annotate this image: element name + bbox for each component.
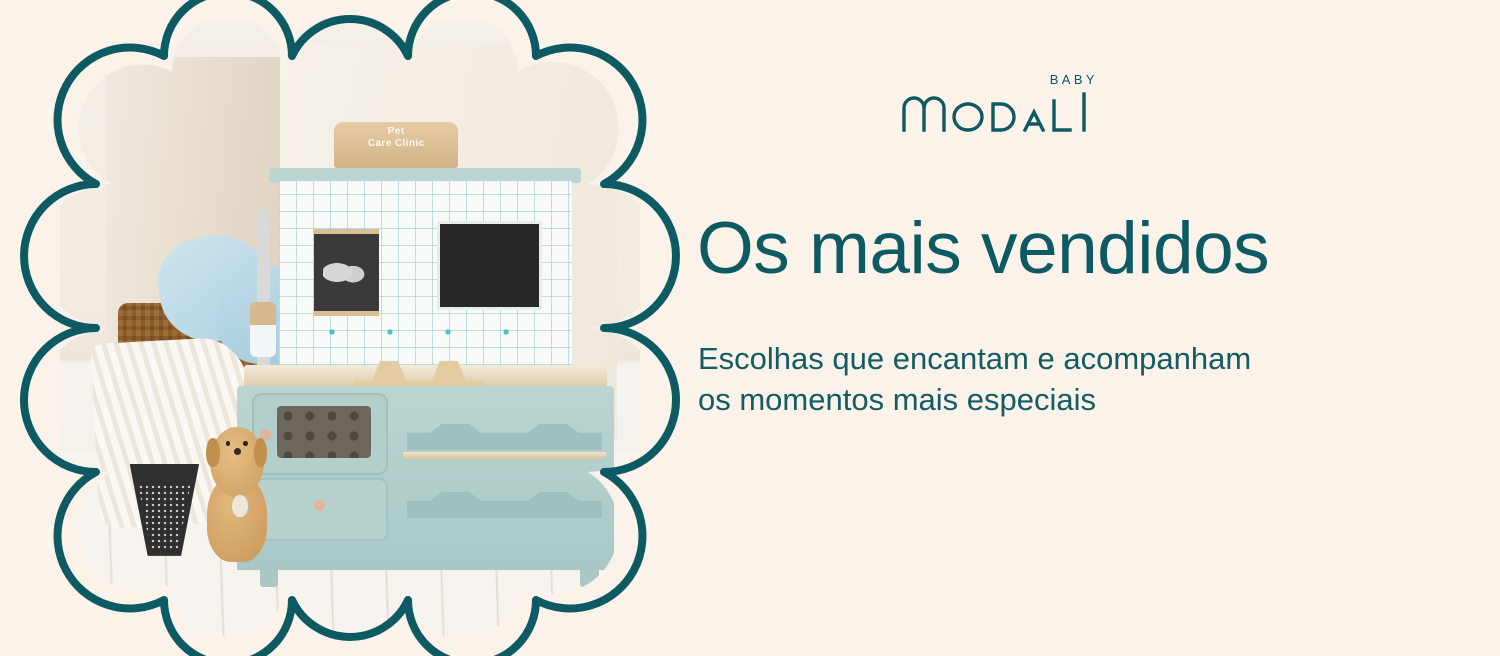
chalkboard — [437, 221, 542, 310]
brand-logo-baby-label: BABY — [1050, 72, 1098, 87]
pet-care-clinic-toy: PetCare Clinic — [263, 143, 588, 562]
hero-image-frame: PetCare Clinic — [60, 20, 640, 636]
modali-wordmark-icon — [898, 86, 1098, 132]
page-title: Os mais vendidos — [697, 212, 1269, 286]
toy-sign-line1: Pet — [388, 126, 405, 137]
banner-content: BABY Os mais vendidos — [697, 0, 1437, 656]
plush-puppy — [199, 427, 274, 563]
hero-photo: PetCare Clinic — [60, 20, 640, 636]
subtitle-line-1: Escolhas que encantam e acompanham — [698, 338, 1251, 379]
paw-print-pattern — [303, 317, 554, 358]
xray-chart-icon — [314, 229, 378, 316]
brand-logo[interactable]: BABY — [898, 72, 1098, 134]
toy-sign: PetCare Clinic — [334, 122, 457, 168]
subtitle-line-2: os momentos mais especiais — [698, 379, 1251, 420]
scallop-frame-svg: PetCare Clinic — [60, 20, 640, 636]
page-subtitle: Escolhas que encantam e acompanham os mo… — [698, 338, 1251, 420]
promo-banner: PetCare Clinic — [0, 0, 1500, 656]
toy-sign-line2: Care Clinic — [368, 138, 425, 149]
